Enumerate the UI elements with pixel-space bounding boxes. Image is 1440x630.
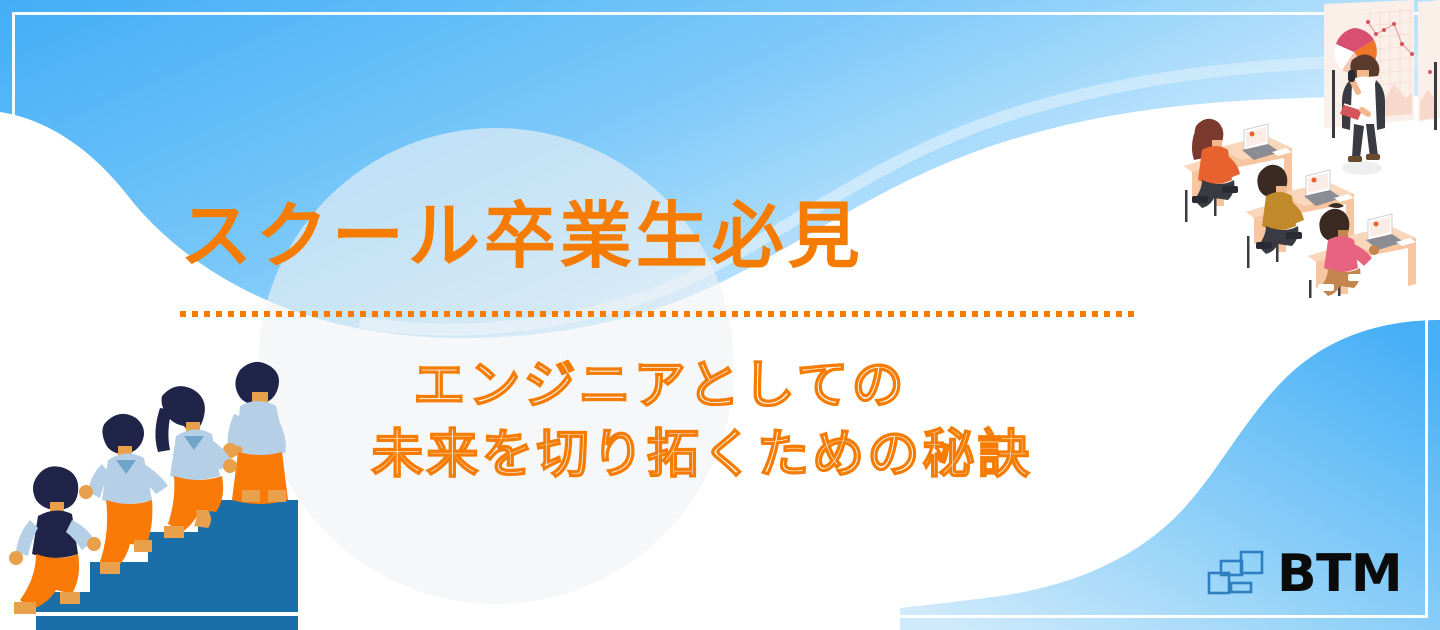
btm-logo-mark-icon xyxy=(1207,549,1265,599)
btm-logo: BTM xyxy=(1207,548,1402,600)
page-title: スクール卒業生必見 xyxy=(180,196,1140,277)
banner: スクール卒業生必見 エンジニアとしての 未来を切り拓くための秘訣 BTM xyxy=(0,0,1440,630)
subtitle-line-1: エンジニアとしての xyxy=(180,352,1140,421)
dotted-divider xyxy=(180,311,1140,317)
btm-logo-text: BTM xyxy=(1277,548,1402,600)
seminar-classroom-illustration xyxy=(1168,0,1440,300)
subtitle-line-2: 未来を切り拓くための秘訣 xyxy=(180,421,1140,490)
student-desk-3 xyxy=(1308,203,1416,298)
subtitle-block: エンジニアとしての 未来を切り拓くための秘訣 xyxy=(180,352,1140,489)
headline-block: スクール卒業生必見 xyxy=(180,196,1140,277)
